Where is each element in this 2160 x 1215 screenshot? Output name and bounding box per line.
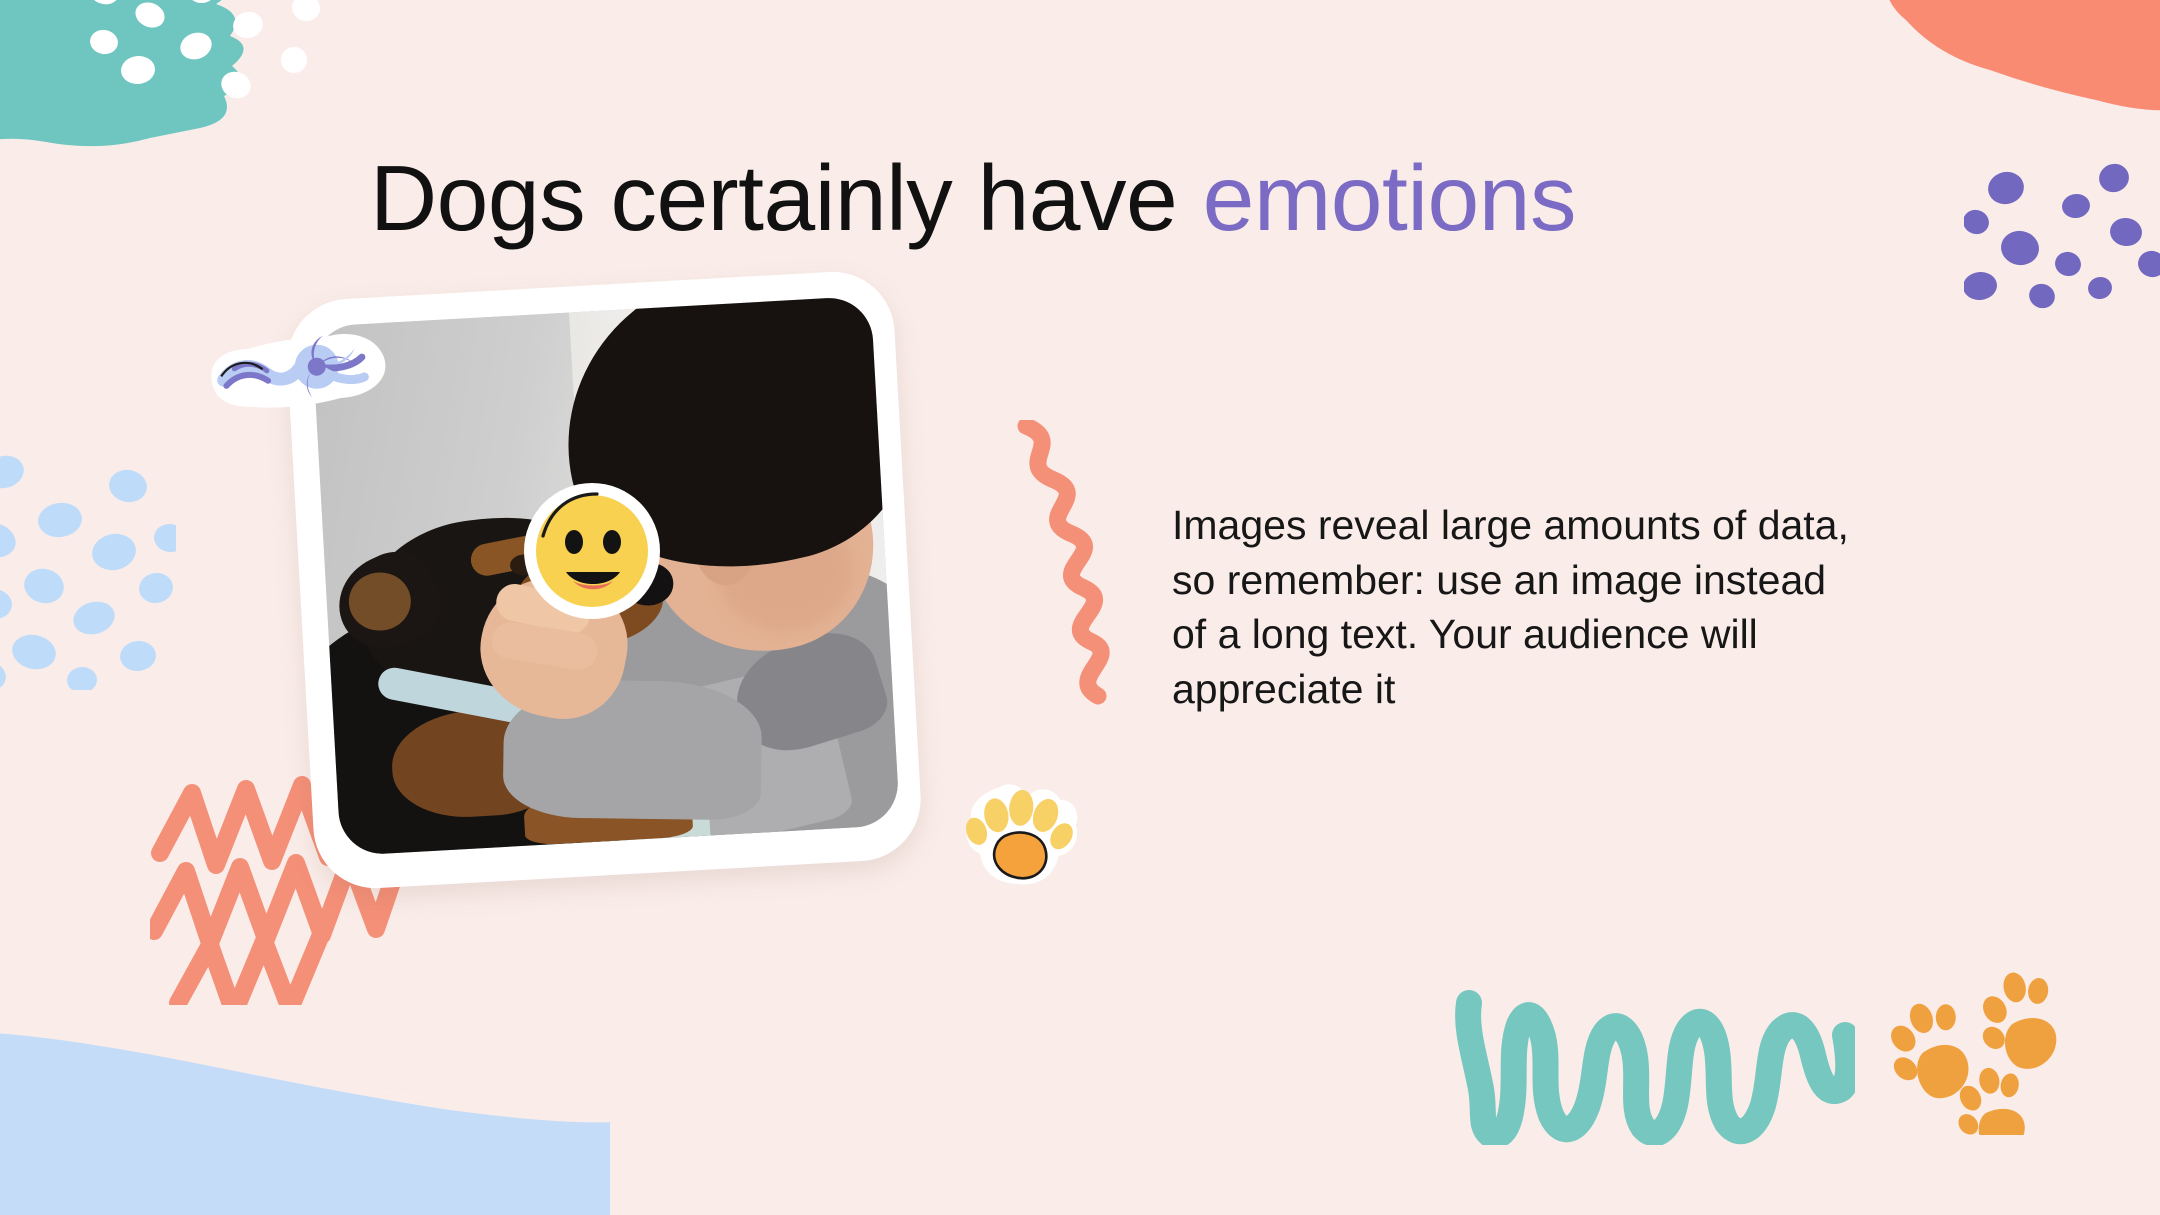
blue-dot-cluster (0, 440, 176, 690)
smiley-face-sticker (521, 480, 663, 622)
coral-zigzag-squiggle-right (980, 420, 1120, 720)
teal-brush-zigzag (1455, 985, 1855, 1145)
title-lead: Dogs certainly have (370, 146, 1203, 250)
slide-canvas: Dogs certainly have emotions Images reve… (0, 0, 2160, 1215)
blue-brush-band (0, 1010, 610, 1215)
title-accent: emotions (1203, 146, 1576, 250)
purple-dot-cluster (1964, 160, 2160, 310)
paw-print-sticker (954, 774, 1088, 904)
page-title: Dogs certainly have emotions (370, 150, 1576, 248)
orange-paw-prints (1875, 965, 2075, 1135)
body-line: appreciate it (1172, 662, 2002, 717)
teal-dotted-blob (0, 0, 340, 170)
body-line: of a long text. Your audience will (1172, 607, 2002, 662)
body-paragraph: Images reveal large amounts of data, so … (1172, 498, 2002, 716)
body-line: Images reveal large amounts of data, (1172, 498, 2002, 553)
body-line: so remember: use an image instead (1172, 553, 2002, 608)
coral-blob (1810, 0, 2160, 210)
